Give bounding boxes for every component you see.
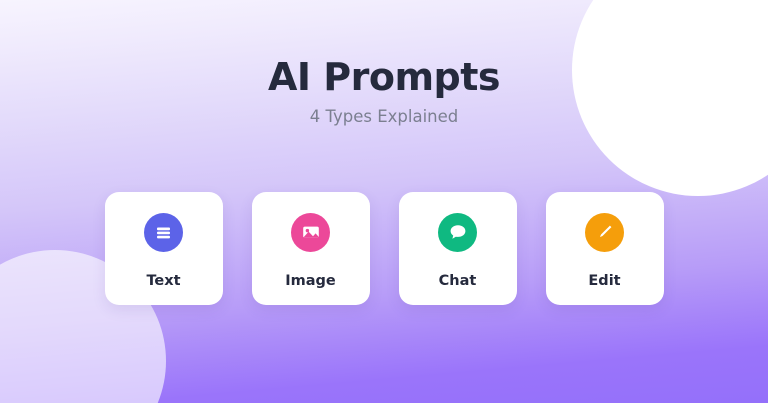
card-edit-label: Edit bbox=[588, 274, 620, 289]
prompt-type-cards: Text Image bbox=[0, 192, 768, 305]
card-text-label: Text bbox=[146, 274, 180, 289]
image-photo-icon-badge bbox=[291, 213, 330, 252]
card-chat[interactable]: Chat bbox=[399, 192, 517, 305]
card-image-label: Image bbox=[285, 274, 336, 289]
card-image[interactable]: Image bbox=[252, 192, 370, 305]
pencil-icon-badge bbox=[585, 213, 624, 252]
card-edit[interactable]: Edit bbox=[546, 192, 664, 305]
card-text[interactable]: Text bbox=[105, 192, 223, 305]
card-chat-label: Chat bbox=[439, 274, 477, 289]
text-lines-icon bbox=[153, 222, 174, 243]
chat-bubble-icon-badge bbox=[438, 213, 477, 252]
chat-bubble-icon bbox=[447, 221, 469, 243]
image-photo-icon bbox=[300, 221, 322, 243]
page-title: AI Prompts bbox=[0, 57, 768, 98]
text-lines-icon-badge bbox=[144, 213, 183, 252]
header: AI Prompts 4 Types Explained bbox=[0, 57, 768, 127]
page-subtitle: 4 Types Explained bbox=[0, 107, 768, 127]
slide-canvas: AI Prompts 4 Types Explained Text bbox=[0, 0, 768, 403]
pencil-icon bbox=[594, 221, 616, 243]
